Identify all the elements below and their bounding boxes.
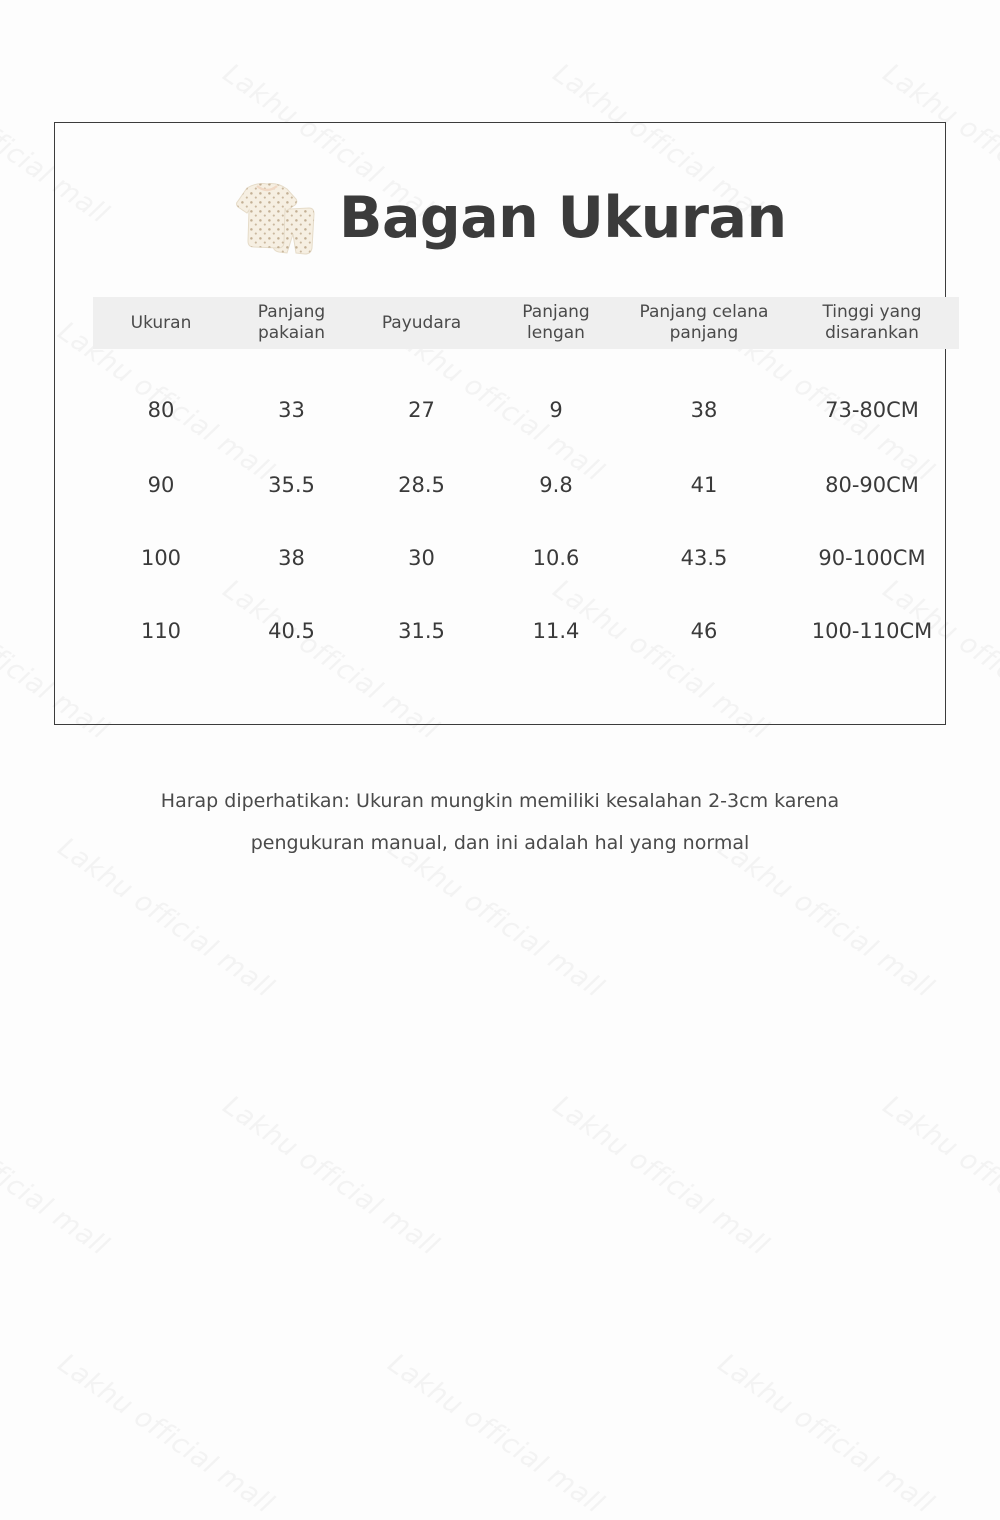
column-header-ukuran: Ukuran xyxy=(93,297,229,349)
cell-payudara: 28.5 xyxy=(354,448,489,521)
cell-panjang-lengan: 11.4 xyxy=(489,594,623,667)
cell-panjang-lengan: 9 xyxy=(489,349,623,448)
cell-payudara: 30 xyxy=(354,521,489,594)
size-chart-frame: Bagan Ukuran Ukuran Panjang pakaian Payu… xyxy=(54,122,946,725)
page-title: Bagan Ukuran xyxy=(339,190,787,247)
table-row: 80 33 27 9 38 73-80CM xyxy=(93,349,959,448)
cell-payudara: 27 xyxy=(354,349,489,448)
product-thumbnail-icon xyxy=(213,164,321,272)
cell-panjang-celana-panjang: 46 xyxy=(623,594,785,667)
cell-panjang-celana-panjang: 38 xyxy=(623,349,785,448)
disclaimer-line-2: pengukuran manual, dan ini adalah hal ya… xyxy=(0,822,1000,864)
watermark-text: Lakhu official mall xyxy=(0,1090,114,1262)
watermark-text: Lakhu official mall xyxy=(547,1090,774,1262)
cell-panjang-lengan: 10.6 xyxy=(489,521,623,594)
column-header-panjang-pakaian: Panjang pakaian xyxy=(229,297,354,349)
cell-ukuran: 90 xyxy=(93,448,229,521)
measurement-disclaimer: Harap diperhatikan: Ukuran mungkin memil… xyxy=(0,780,1000,864)
cell-tinggi-yang-disarankan: 73-80CM xyxy=(785,349,959,448)
table-row: 110 40.5 31.5 11.4 46 100-110CM xyxy=(93,594,959,667)
column-header-panjang-lengan: Panjang lengan xyxy=(489,297,623,349)
cell-tinggi-yang-disarankan: 80-90CM xyxy=(785,448,959,521)
column-header-panjang-celana-panjang: Panjang celana panjang xyxy=(623,297,785,349)
size-chart-table: Ukuran Panjang pakaian Payudara Panjang … xyxy=(93,297,959,667)
column-header-tinggi-yang-disarankan: Tinggi yang disarankan xyxy=(785,297,959,349)
table-row: 100 38 30 10.6 43.5 90-100CM xyxy=(93,521,959,594)
cell-ukuran: 100 xyxy=(93,521,229,594)
table-header-row: Ukuran Panjang pakaian Payudara Panjang … xyxy=(93,297,959,349)
cell-panjang-celana-panjang: 41 xyxy=(623,448,785,521)
watermark-text: Lakhu official mall xyxy=(712,1348,939,1520)
cell-ukuran: 110 xyxy=(93,594,229,667)
cell-tinggi-yang-disarankan: 90-100CM xyxy=(785,521,959,594)
disclaimer-line-1: Harap diperhatikan: Ukuran mungkin memil… xyxy=(0,780,1000,822)
cell-panjang-pakaian: 40.5 xyxy=(229,594,354,667)
cell-payudara: 31.5 xyxy=(354,594,489,667)
cell-panjang-pakaian: 35.5 xyxy=(229,448,354,521)
cell-panjang-pakaian: 38 xyxy=(229,521,354,594)
table-row: 90 35.5 28.5 9.8 41 80-90CM xyxy=(93,448,959,521)
watermark-text: Lakhu official mall xyxy=(52,1348,279,1520)
cell-ukuran: 80 xyxy=(93,349,229,448)
watermark-text: Lakhu official mall xyxy=(877,1090,1000,1262)
cell-tinggi-yang-disarankan: 100-110CM xyxy=(785,594,959,667)
cell-panjang-celana-panjang: 43.5 xyxy=(623,521,785,594)
cell-panjang-lengan: 9.8 xyxy=(489,448,623,521)
column-header-payudara: Payudara xyxy=(354,297,489,349)
chart-header: Bagan Ukuran xyxy=(55,153,945,283)
watermark-text: Lakhu official mall xyxy=(217,1090,444,1262)
watermark-text: Lakhu official mall xyxy=(382,1348,609,1520)
cell-panjang-pakaian: 33 xyxy=(229,349,354,448)
